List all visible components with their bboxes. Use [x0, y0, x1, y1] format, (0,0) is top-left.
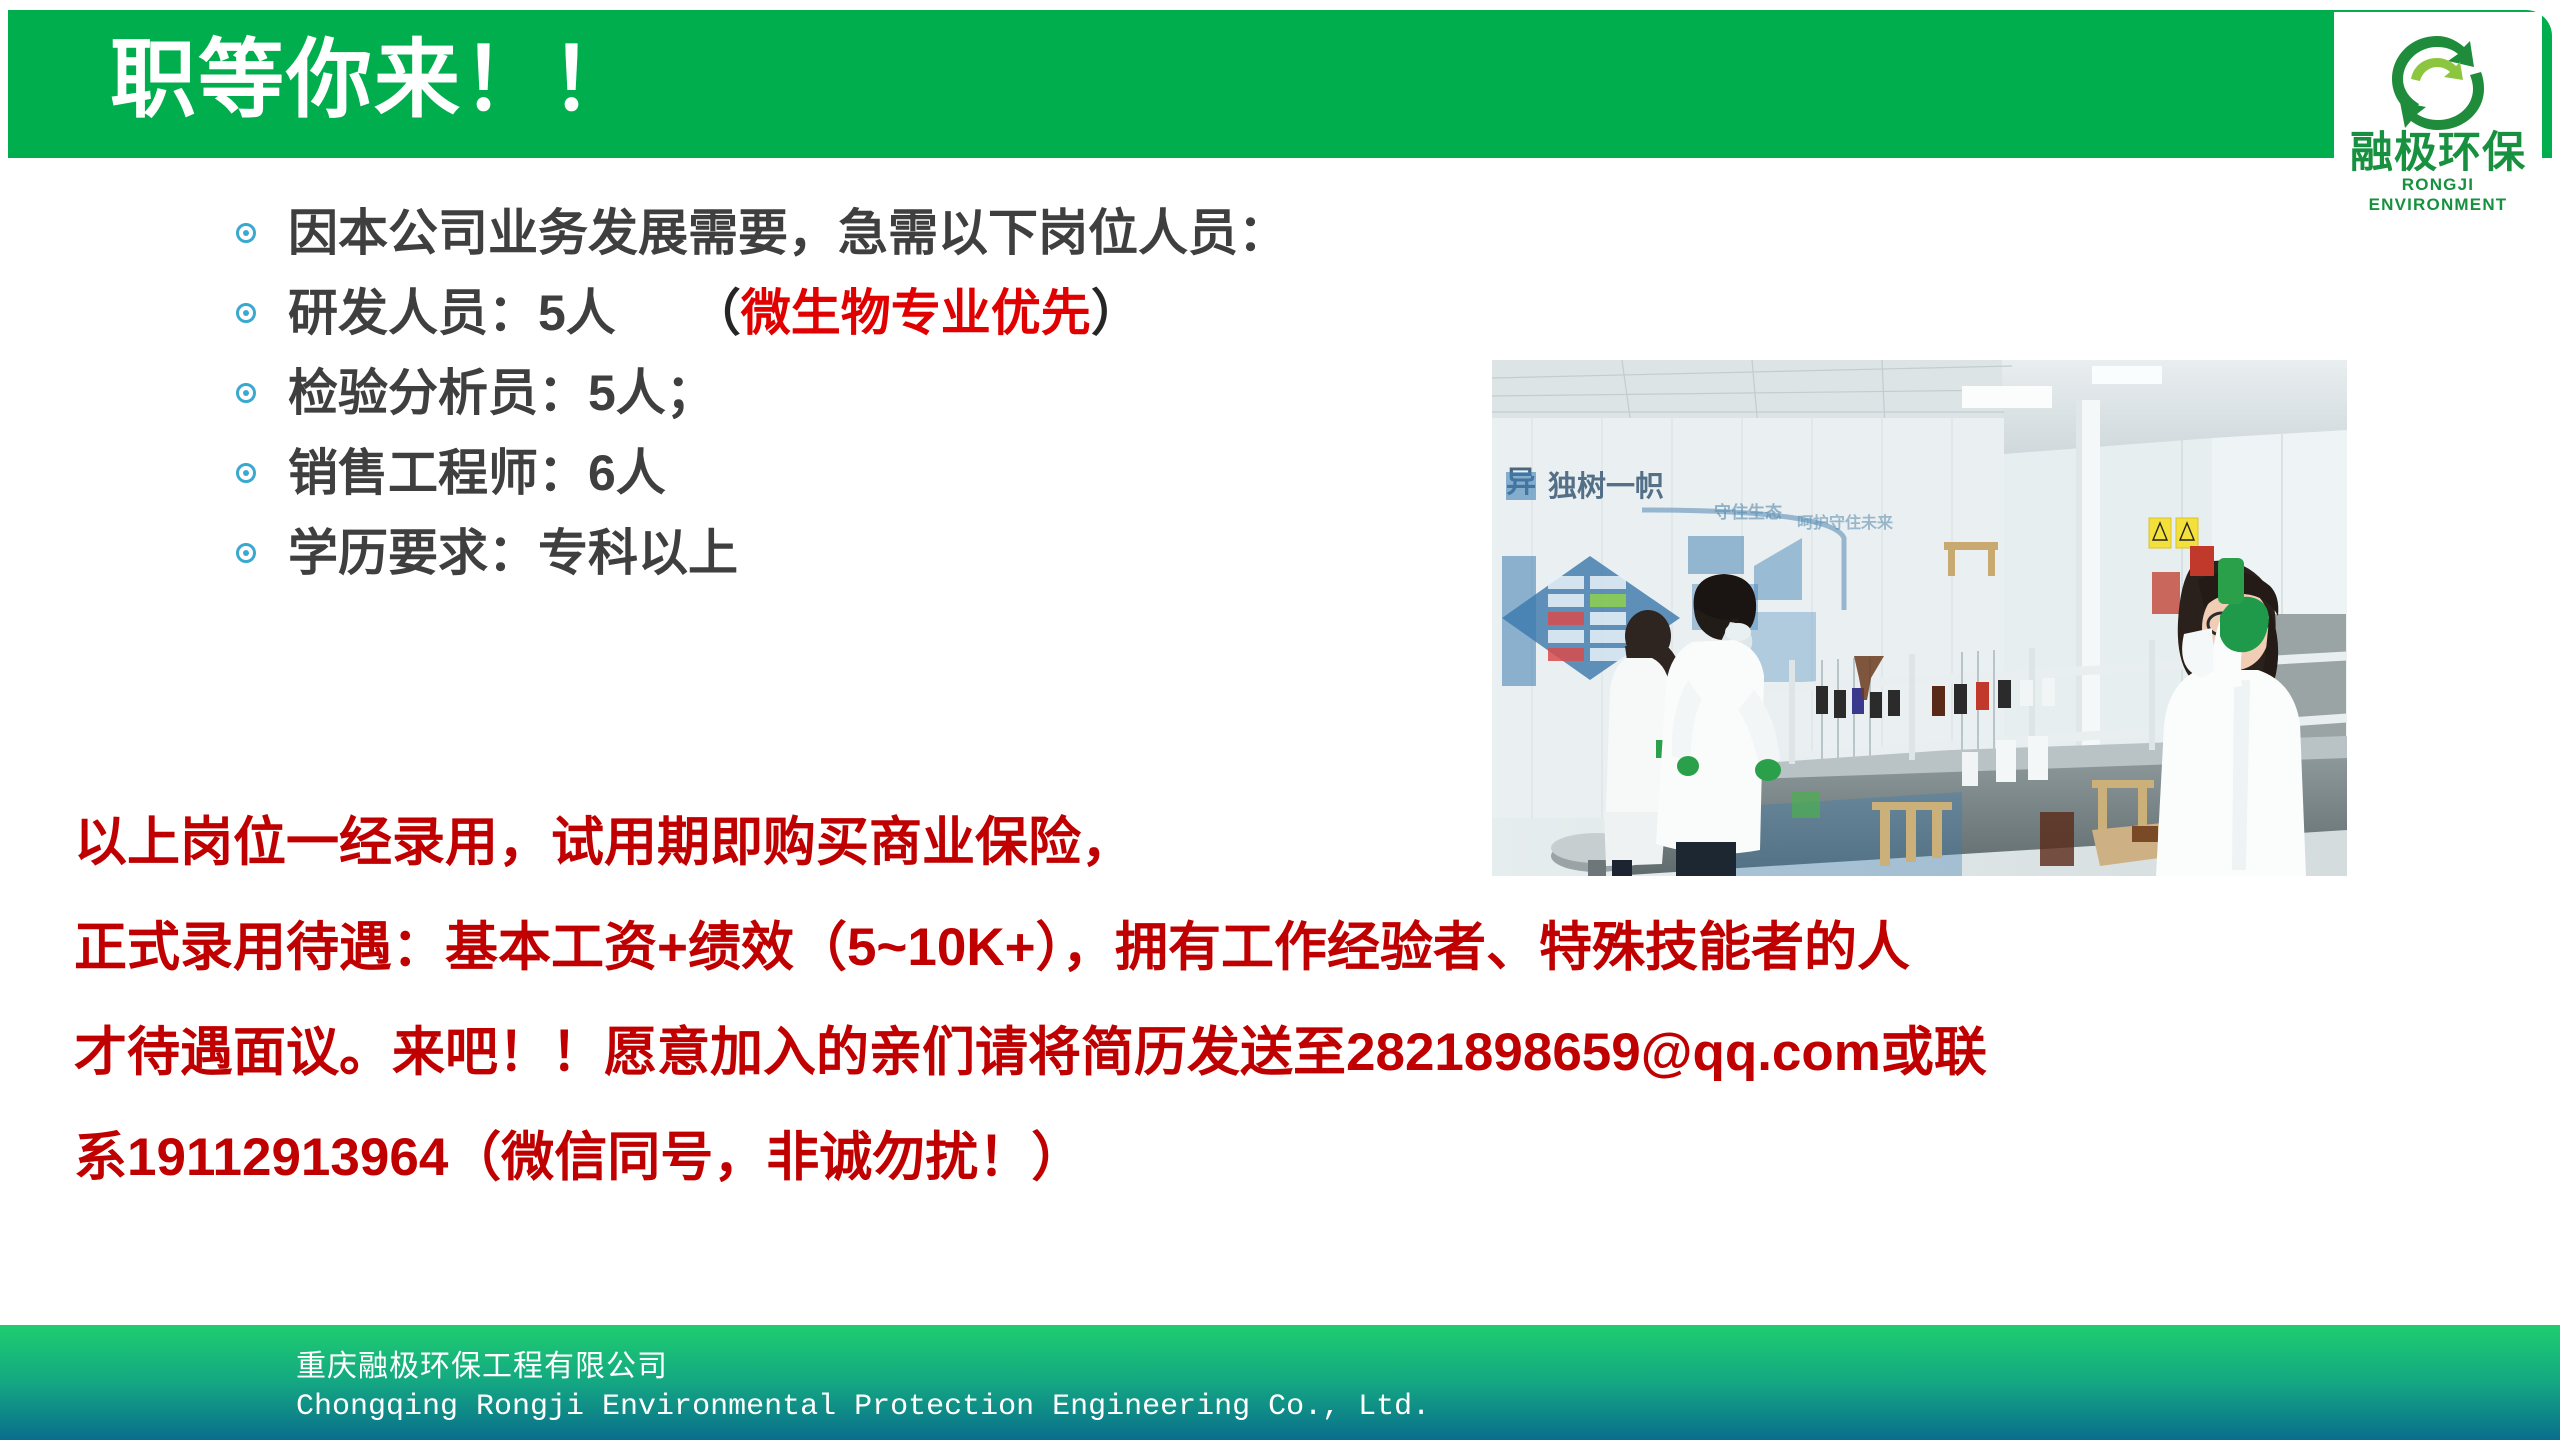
list-item-label: 销售工程师：6人 — [288, 442, 666, 504]
company-logo: 融极环保 RONGJI ENVIRONMENT — [2334, 12, 2542, 210]
recycle-circle-arrow-icon — [2378, 28, 2496, 130]
logo-name-cn: 融极环保 — [2334, 130, 2542, 176]
list-item: 销售工程师：6人 — [236, 436, 1536, 510]
page-title: 职等你来！！ — [110, 28, 638, 132]
bullet-dot-icon — [236, 463, 288, 483]
svg-text:独树一帜: 独树一帜 — [1548, 469, 1664, 503]
bullet-dot-icon — [236, 223, 288, 243]
bullet-dot-icon — [236, 543, 288, 563]
list-item-label: 研发人员：5人 （微生物专业优先） — [288, 282, 1141, 344]
job-rd-label: 研发人员：5人 — [288, 285, 616, 341]
paren-close: ） — [1091, 285, 1141, 341]
list-item: 检验分析员：5人； — [236, 356, 1536, 430]
spacer — [616, 285, 716, 341]
list-item-label: 检验分析员：5人； — [288, 362, 716, 424]
list-item-label: 因本公司业务发展需要，急需以下岗位人员： — [288, 202, 1288, 264]
list-item: 研发人员：5人 （微生物专业优先） — [236, 276, 1536, 350]
job-rd-note: 微生物专业优先 — [741, 285, 1091, 341]
list-item: 学历要求：专科以上 — [236, 516, 1536, 590]
list-item-label: 学历要求：专科以上 — [288, 522, 738, 584]
footer-company-en: Chongqing Rongji Environmental Protectio… — [296, 1388, 1430, 1426]
recruitment-details: 以上岗位一经录用，试用期即购买商业保险， 正式录用待遇：基本工资+绩效（5~10… — [74, 790, 2524, 1210]
logo-name-en: RONGJI ENVIRONMENT — [2334, 175, 2542, 215]
bullet-dot-icon — [236, 303, 288, 323]
detail-line-4: 系19112913964（微信同号，非诚勿扰！） — [74, 1105, 2524, 1210]
job-list: 因本公司业务发展需要，急需以下岗位人员： 研发人员：5人 （微生物专业优先） 检… — [236, 196, 1536, 590]
detail-line-1: 以上岗位一经录用，试用期即购买商业保险， — [74, 790, 2524, 895]
list-item: 因本公司业务发展需要，急需以下岗位人员： — [236, 196, 1536, 270]
bullet-dot-icon — [236, 383, 288, 403]
detail-line-2: 正式录用待遇：基本工资+绩效（5~10K+），拥有工作经验者、特殊技能者的人 — [74, 895, 2524, 1000]
detail-line-3: 才待遇面议。来吧！！愿意加入的亲们请将简历发送至2821898659@qq.co… — [74, 1000, 2524, 1105]
paren-open: （ — [716, 285, 741, 341]
footer-company-cn: 重庆融极环保工程有限公司 — [296, 1348, 668, 1386]
